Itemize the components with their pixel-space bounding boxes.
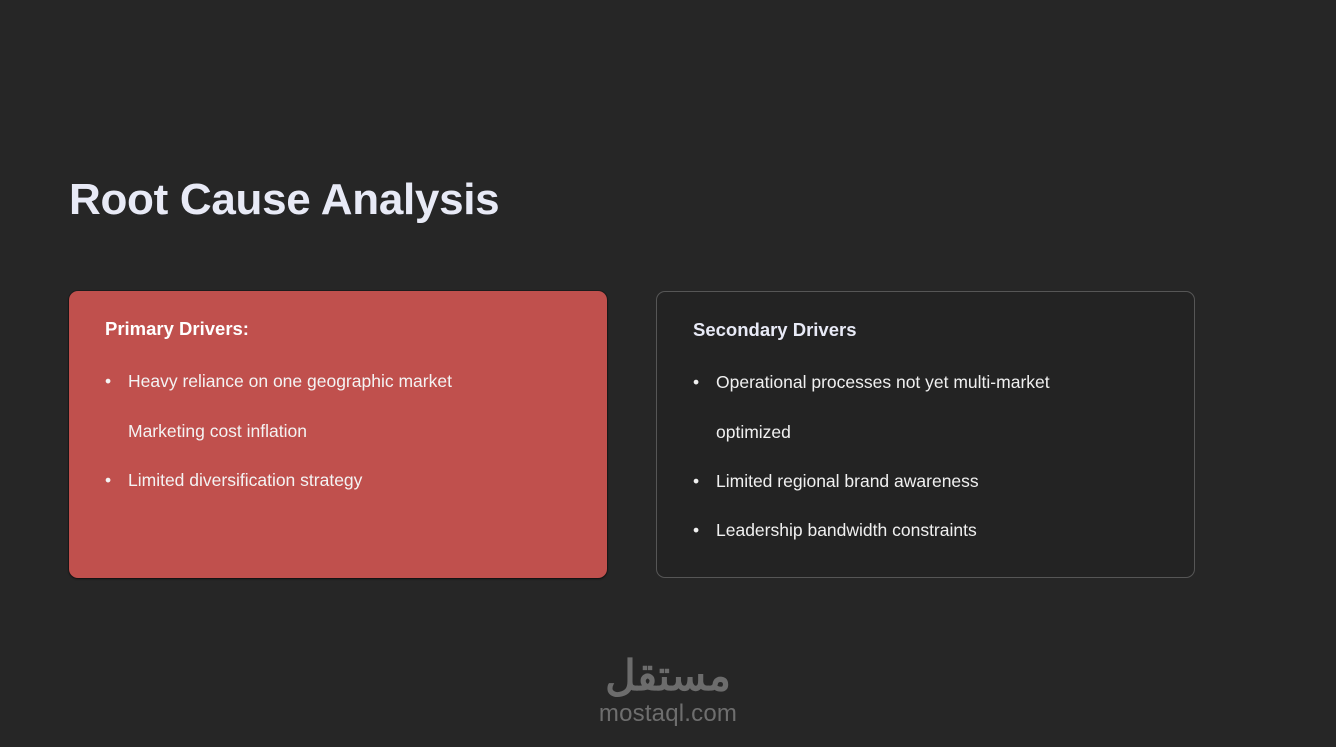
bullet-dot-icon: • <box>105 372 111 390</box>
list-item: • Limited regional brand awareness <box>693 472 1168 490</box>
list-item-text-continuation: Marketing cost inflation <box>128 422 581 440</box>
page-title: Root Cause Analysis <box>69 176 499 224</box>
list-item: • Operational processes not yet multi-ma… <box>693 373 1168 441</box>
bullet-dot-icon: • <box>693 472 699 490</box>
card-secondary-drivers-bullet-list: • Operational processes not yet multi-ma… <box>693 373 1168 540</box>
card-primary-drivers-bullet-list: • Heavy reliance on one geographic marke… <box>105 372 581 489</box>
list-item-text: Limited regional brand awareness <box>716 472 1168 490</box>
list-item-text: Leadership bandwidth constraints <box>716 521 1168 539</box>
bullet-dot-icon: • <box>693 373 699 391</box>
card-primary-drivers: Primary Drivers: • Heavy reliance on one… <box>69 291 607 578</box>
watermark: مستقل mostaql.com <box>0 655 1336 726</box>
list-item-text-continuation: optimized <box>716 423 1168 441</box>
watermark-domain-text: mostaql.com <box>0 702 1336 726</box>
card-secondary-drivers-heading: Secondary Drivers <box>693 319 1168 341</box>
list-item: • Limited diversification strategy <box>105 471 581 489</box>
list-item-text: Limited diversification strategy <box>128 471 581 489</box>
card-secondary-drivers: Secondary Drivers • Operational processe… <box>656 291 1195 578</box>
drivers-card-row: Primary Drivers: • Heavy reliance on one… <box>69 291 1195 578</box>
list-item: • Leadership bandwidth constraints <box>693 521 1168 539</box>
card-primary-drivers-heading: Primary Drivers: <box>105 318 581 340</box>
bullet-dot-icon: • <box>105 471 111 489</box>
list-item: • Heavy reliance on one geographic marke… <box>105 372 581 440</box>
bullet-dot-icon: • <box>693 521 699 539</box>
list-item-text: Heavy reliance on one geographic market <box>128 372 581 390</box>
watermark-arabic-logo: مستقل <box>0 655 1336 697</box>
slide-root-cause-analysis: Root Cause Analysis Primary Drivers: • H… <box>0 0 1336 747</box>
list-item-text: Operational processes not yet multi-mark… <box>716 373 1168 391</box>
